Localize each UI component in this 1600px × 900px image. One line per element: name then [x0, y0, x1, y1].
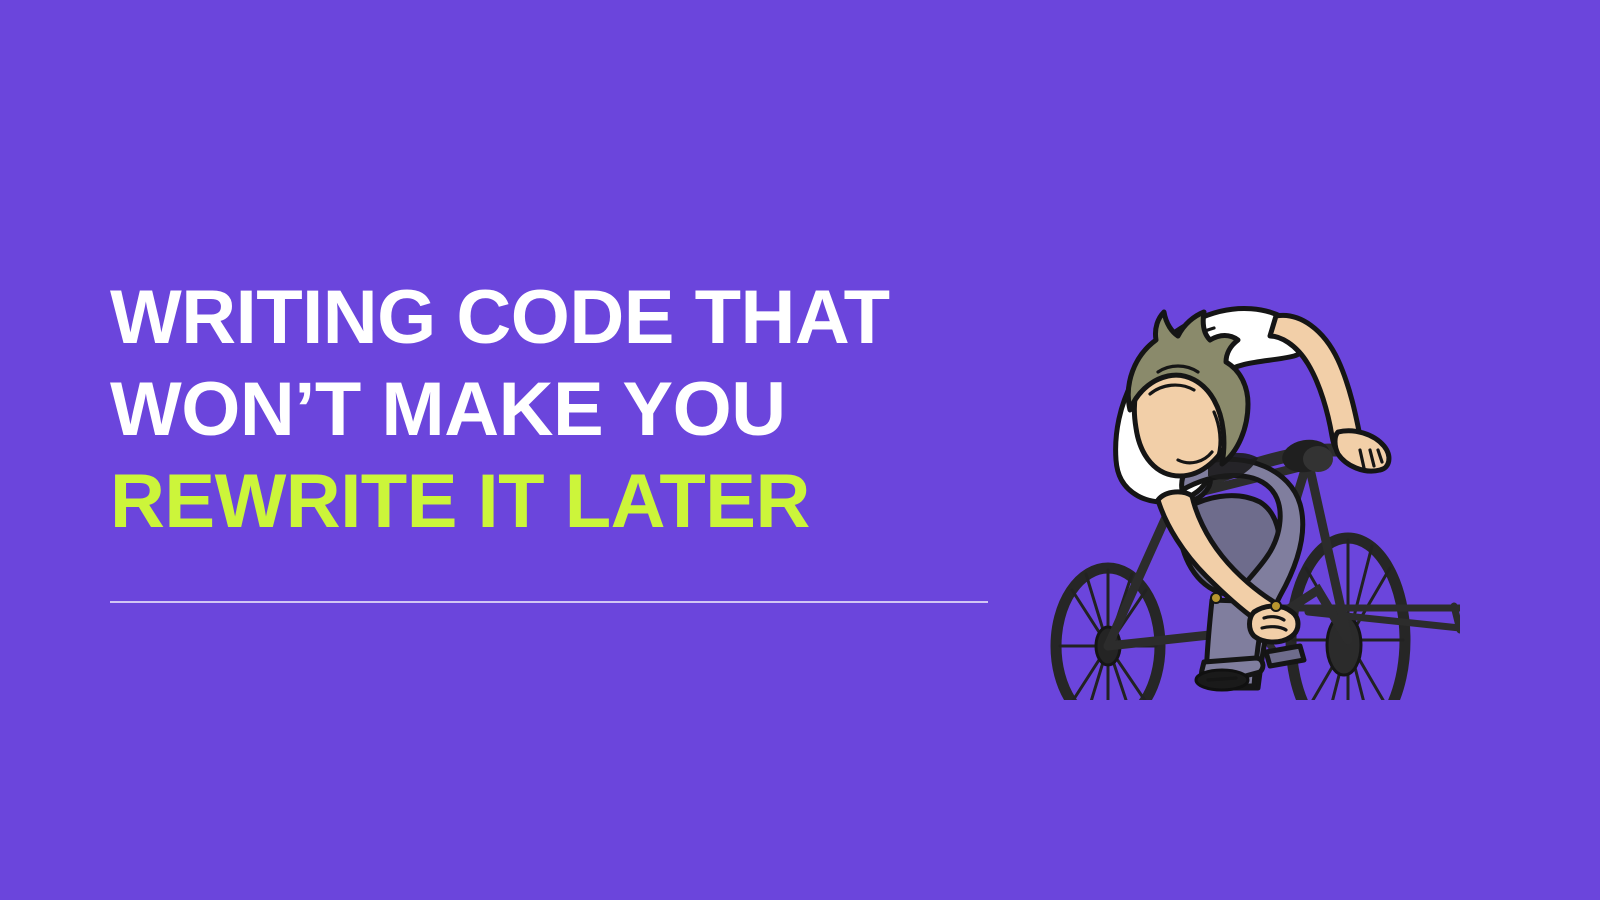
- rider-far-hand: [1335, 431, 1389, 471]
- divider-rule: [110, 601, 988, 603]
- headline-block: WRITING CODE THAT WON’T MAKE YOU REWRITE…: [110, 272, 1010, 548]
- headline-line-3-accent: REWRITE IT LATER: [110, 456, 1010, 548]
- slide-canvas: WRITING CODE THAT WON’T MAKE YOU REWRITE…: [0, 0, 1600, 900]
- headline-line-1: WRITING CODE THAT: [110, 272, 1010, 364]
- headline-line-2: WON’T MAKE YOU: [110, 364, 1010, 456]
- cyclist-on-bicycle-graphic: .ol { stroke:#151515; stroke-width:5; st…: [1008, 160, 1460, 700]
- cyclist-illustration: .ol { stroke:#151515; stroke-width:5; st…: [1008, 160, 1460, 700]
- rear-wheel: [1056, 568, 1160, 700]
